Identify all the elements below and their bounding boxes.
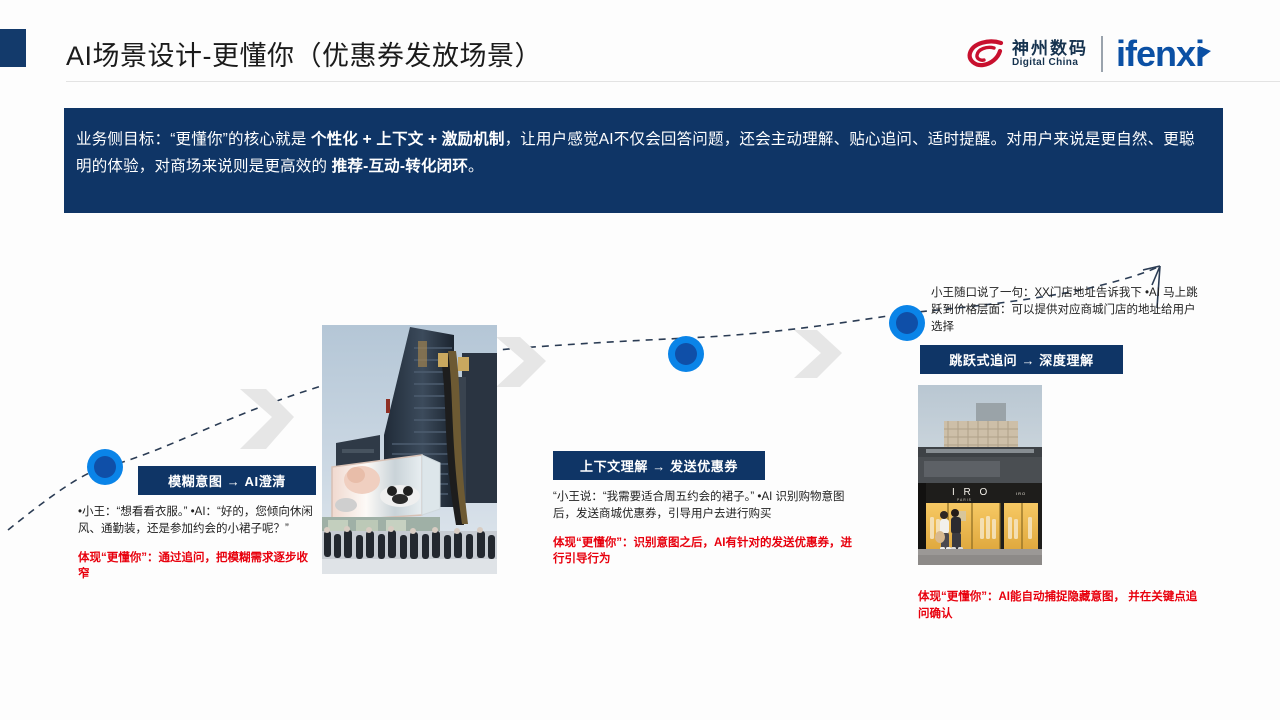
step-3-pre-note: 小王随口说了一句：XX门店地址告诉我下 •AI 马上跳跃到价格层面：可以提供对应… xyxy=(931,285,1199,336)
photo-iro-storefront: I R O PARIS IRO xyxy=(918,385,1042,565)
banner-seg-1: 业务侧目标：“更懂你”的核心就是 xyxy=(76,131,311,148)
digital-china-text: 神州数码 Digital China xyxy=(1012,40,1088,69)
header-accent-bar xyxy=(0,29,26,67)
chevron-arrow-1 xyxy=(236,383,298,460)
chevron-arrow-3 xyxy=(790,325,846,388)
step-1-label: 模糊意图 → AI澄清 xyxy=(138,466,316,495)
svg-text:IRO: IRO xyxy=(1016,491,1026,496)
step-1-highlight: 体现“更懂你”：通过追问，把模糊需求逐步收窄 xyxy=(78,550,316,583)
header-divider xyxy=(66,81,1280,82)
photo-city-billboard xyxy=(322,325,497,574)
flow-node-2[interactable] xyxy=(668,336,704,372)
chevron-arrow-2 xyxy=(492,332,550,397)
logo-group: 神州数码 Digital China ifenxi xyxy=(967,31,1210,77)
step-3-highlight: 体现“更懂你”：AI能自动捕捉隐藏意图， 并在关键点追问确认 xyxy=(918,589,1208,622)
page-title: AI场景设计-更懂你（优惠券发放场景） xyxy=(66,34,542,73)
step-1-body: •小王：“想看看衣服。” •AI：“好的，您倾向休闲风、通勤装，还是参加约会的小… xyxy=(78,504,316,539)
step-2-label: 上下文理解 → 发送优惠券 xyxy=(553,451,765,480)
brand-name-en: Digital China xyxy=(1012,57,1088,68)
step-card-2: 上下文理解 → 发送优惠券 “小王说：“我需要适合周五约会的裙子。” •AI 识… xyxy=(553,451,765,568)
svg-text:I R O: I R O xyxy=(952,487,990,498)
digital-china-logo: 神州数码 Digital China xyxy=(967,39,1088,69)
svg-text:PARIS: PARIS xyxy=(957,498,972,502)
step-3-label: 跳跃式追问 → 深度理解 xyxy=(920,345,1123,374)
banner-seg-4: 推荐-互动-转化闭环 xyxy=(332,158,468,175)
logo-separator xyxy=(1101,36,1103,72)
brand-name-cn: 神州数码 xyxy=(1012,40,1088,58)
banner-seg-5: 。 xyxy=(468,158,484,175)
step-2-highlight: 体现“更懂你”：识别意图之后，AI有针对的发送优惠券，进行引导行为 xyxy=(553,535,858,568)
step-card-3: 跳跃式追问 → 深度理解 xyxy=(920,345,1123,374)
ifenxi-wordmark: ifenxi xyxy=(1116,33,1204,74)
flow-node-1[interactable] xyxy=(87,449,123,485)
step-2-body: “小王说：“我需要适合周五约会的裙子。” •AI 识别购物意图后，发送商城优惠券… xyxy=(553,489,858,524)
flow-node-3[interactable] xyxy=(889,305,925,341)
banner-seg-2: 个性化 + 上下文 + 激励机制 xyxy=(311,131,505,148)
objective-banner: 业务侧目标：“更懂你”的核心就是 个性化 + 上下文 + 激励机制，让用户感觉A… xyxy=(64,108,1223,213)
objective-banner-text: 业务侧目标：“更懂你”的核心就是 个性化 + 上下文 + 激励机制，让用户感觉A… xyxy=(76,127,1209,180)
ifenxi-flag-icon xyxy=(1197,32,1213,68)
step-card-1: 模糊意图 → AI澄清 •小王：“想看看衣服。” •AI：“好的，您倾向休闲风、… xyxy=(138,466,316,583)
slide-root: AI场景设计-更懂你（优惠券发放场景） 神州数码 Digital China i… xyxy=(0,0,1280,720)
swirl-icon xyxy=(967,39,1005,69)
ifenxi-logo: ifenxi xyxy=(1116,36,1210,72)
